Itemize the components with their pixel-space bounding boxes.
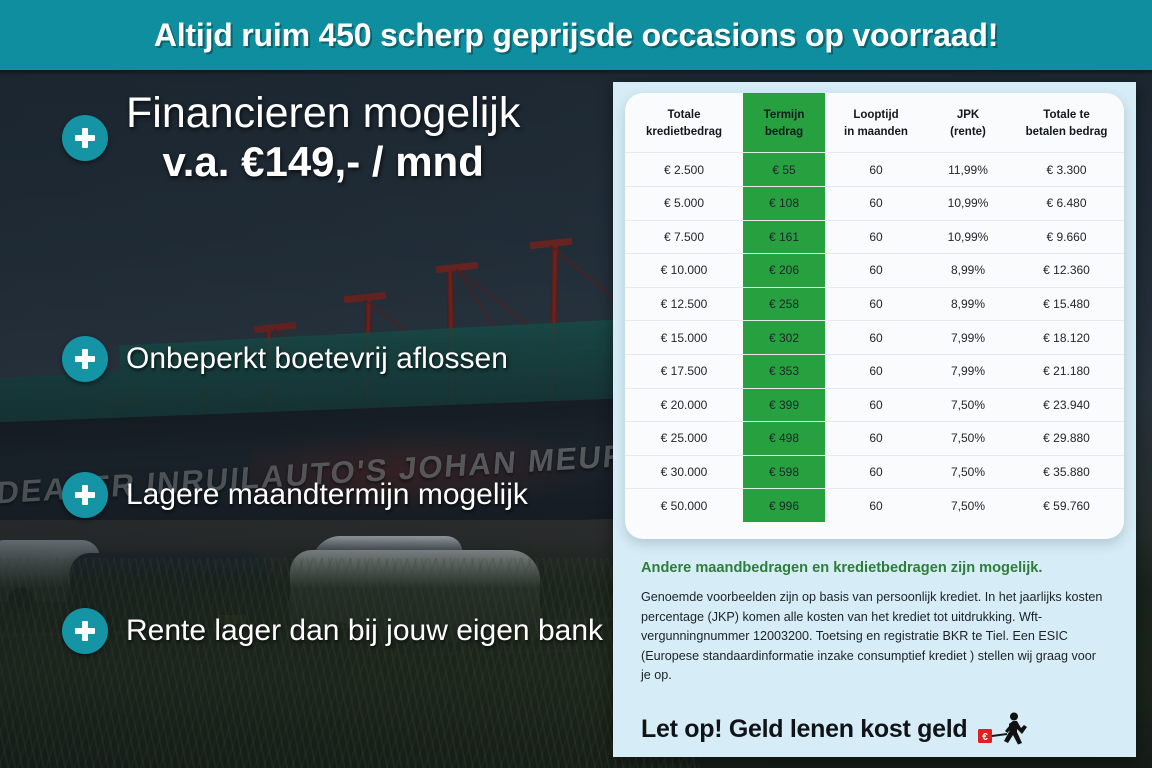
benefit-label: Lagere maandtermijn mogelijk [126, 478, 528, 512]
table-cell: € 10.000 [625, 254, 743, 288]
table-cell: € 2.500 [625, 153, 743, 187]
table-row: € 15.000€ 302607,99%€ 18.120 [625, 321, 1124, 355]
credit-info-panel: Totale kredietbedrag Termijn bedrag Loop… [613, 82, 1136, 757]
credit-warning: Let op! Geld lenen kost geld € [641, 712, 1033, 746]
table-cell: € 23.940 [1009, 388, 1124, 422]
table-cell: € 59.760 [1009, 489, 1124, 522]
advert-poster: DEALER INRUILAUTO'S JOHAN MEURE ALTIJD 4… [0, 0, 1152, 768]
benefit-item-aflossen: Onbeperkt boetevrij aflossen [62, 336, 508, 382]
benefit-item-financing: Financieren mogelijk v.a. €149,- / mnd [62, 90, 520, 185]
th-jpk: JPK (rente) [927, 93, 1009, 153]
plus-icon [62, 336, 108, 382]
th-line1: Termijn [745, 107, 823, 124]
table-cell: € 18.120 [1009, 321, 1124, 355]
table-cell: 60 [825, 287, 927, 321]
table-cell: 60 [825, 321, 927, 355]
notes-body: Genoemde voorbeelden zijn op basis van p… [641, 588, 1103, 686]
table-cell: € 17.500 [625, 354, 743, 388]
table-cell: 60 [825, 153, 927, 187]
table-cell: € 302 [743, 321, 825, 355]
plus-icon [62, 608, 108, 654]
table-cell: € 29.880 [1009, 422, 1124, 456]
banner-dropshadow [0, 70, 1152, 75]
svg-text:€: € [983, 732, 989, 743]
table-cell: 60 [825, 422, 927, 456]
table-cell: € 108 [743, 186, 825, 220]
benefit-item-rente: Rente lager dan bij jouw eigen bank [62, 608, 603, 654]
table-cell: € 3.300 [1009, 153, 1124, 187]
table-row: € 25.000€ 498607,50%€ 29.880 [625, 422, 1124, 456]
rate-table-card: Totale kredietbedrag Termijn bedrag Loop… [625, 93, 1124, 539]
th-line1: Looptijd [827, 107, 925, 124]
plus-icon [62, 115, 108, 161]
th-line2: (rente) [929, 124, 1007, 141]
th-line1: Totale [627, 107, 741, 124]
table-cell: € 15.000 [625, 321, 743, 355]
table-row: € 50.000€ 996607,50%€ 59.760 [625, 489, 1124, 522]
table-cell: € 353 [743, 354, 825, 388]
th-termijn-bedrag: Termijn bedrag [743, 93, 825, 153]
table-cell: € 258 [743, 287, 825, 321]
table-cell: € 498 [743, 422, 825, 456]
credit-notes: Andere maandbedragen en kredietbedragen … [641, 560, 1103, 686]
table-cell: 60 [825, 186, 927, 220]
th-totale-kredietbedrag: Totale kredietbedrag [625, 93, 743, 153]
table-cell: € 6.480 [1009, 186, 1124, 220]
th-line2: in maanden [827, 124, 925, 141]
table-cell: € 399 [743, 388, 825, 422]
table-cell: 7,50% [927, 489, 1009, 522]
th-line2: kredietbedrag [627, 124, 741, 141]
table-cell: 60 [825, 489, 927, 522]
table-cell: 10,99% [927, 186, 1009, 220]
table-row: € 12.500€ 258608,99%€ 15.480 [625, 287, 1124, 321]
table-cell: € 161 [743, 220, 825, 254]
table-row: € 7.500€ 1616010,99%€ 9.660 [625, 220, 1124, 254]
table-cell: € 20.000 [625, 388, 743, 422]
benefit-hero-line2: v.a. €149,- / mnd [126, 139, 520, 185]
afm-walking-man-icon: € [977, 712, 1033, 746]
notes-title: Andere maandbedragen en kredietbedragen … [641, 560, 1103, 576]
table-cell: € 15.480 [1009, 287, 1124, 321]
table-cell: € 5.000 [625, 186, 743, 220]
table-cell: 8,99% [927, 287, 1009, 321]
benefit-item-maandtermijn: Lagere maandtermijn mogelijk [62, 472, 528, 518]
table-row: € 5.000€ 1086010,99%€ 6.480 [625, 186, 1124, 220]
th-line2: bedrag [745, 124, 823, 141]
table-row: € 20.000€ 399607,50%€ 23.940 [625, 388, 1124, 422]
table-cell: € 12.360 [1009, 254, 1124, 288]
benefit-hero-text: Financieren mogelijk v.a. €149,- / mnd [126, 90, 520, 185]
rate-table-body: € 2.500€ 556011,99%€ 3.300€ 5.000€ 10860… [625, 153, 1124, 522]
plus-icon [62, 472, 108, 518]
table-cell: 7,99% [927, 321, 1009, 355]
table-row: € 17.500€ 353607,99%€ 21.180 [625, 354, 1124, 388]
table-row: € 10.000€ 206608,99%€ 12.360 [625, 254, 1124, 288]
benefit-label: Rente lager dan bij jouw eigen bank [126, 614, 603, 648]
table-cell: 60 [825, 220, 927, 254]
table-row: € 2.500€ 556011,99%€ 3.300 [625, 153, 1124, 187]
table-cell: 10,99% [927, 220, 1009, 254]
th-line1: Totale te [1011, 107, 1122, 124]
table-cell: € 21.180 [1009, 354, 1124, 388]
th-totale-te-betalen: Totale te betalen bedrag [1009, 93, 1124, 153]
table-cell: € 598 [743, 455, 825, 489]
table-cell: 60 [825, 455, 927, 489]
th-looptijd: Looptijd in maanden [825, 93, 927, 153]
table-cell: € 50.000 [625, 489, 743, 522]
table-cell: 7,50% [927, 388, 1009, 422]
table-cell: € 996 [743, 489, 825, 522]
table-cell: 7,50% [927, 422, 1009, 456]
table-cell: 60 [825, 388, 927, 422]
table-cell: € 30.000 [625, 455, 743, 489]
table-row: € 30.000€ 598607,50%€ 35.880 [625, 455, 1124, 489]
table-cell: € 9.660 [1009, 220, 1124, 254]
table-cell: 60 [825, 254, 927, 288]
th-line2: betalen bedrag [1011, 124, 1122, 141]
warning-text: Let op! Geld lenen kost geld [641, 715, 967, 744]
rate-table-head: Totale kredietbedrag Termijn bedrag Loop… [625, 93, 1124, 153]
table-header-row: Totale kredietbedrag Termijn bedrag Loop… [625, 93, 1124, 153]
table-cell: € 7.500 [625, 220, 743, 254]
table-cell: 8,99% [927, 254, 1009, 288]
benefit-label: Onbeperkt boetevrij aflossen [126, 342, 508, 376]
table-cell: € 206 [743, 254, 825, 288]
table-cell: 7,50% [927, 455, 1009, 489]
table-cell: 11,99% [927, 153, 1009, 187]
rate-table: Totale kredietbedrag Termijn bedrag Loop… [625, 93, 1124, 522]
table-cell: 60 [825, 354, 927, 388]
benefits-column: Financieren mogelijk v.a. €149,- / mnd O… [0, 70, 612, 768]
table-cell: € 35.880 [1009, 455, 1124, 489]
table-cell: € 12.500 [625, 287, 743, 321]
banner-headline: Altijd ruim 450 scherp geprijsde occasio… [154, 17, 998, 54]
table-cell: € 25.000 [625, 422, 743, 456]
benefit-hero-line1: Financieren mogelijk [126, 90, 520, 137]
table-cell: 7,99% [927, 354, 1009, 388]
top-banner: Altijd ruim 450 scherp geprijsde occasio… [0, 0, 1152, 70]
table-cell: € 55 [743, 153, 825, 187]
th-line1: JPK [929, 107, 1007, 124]
